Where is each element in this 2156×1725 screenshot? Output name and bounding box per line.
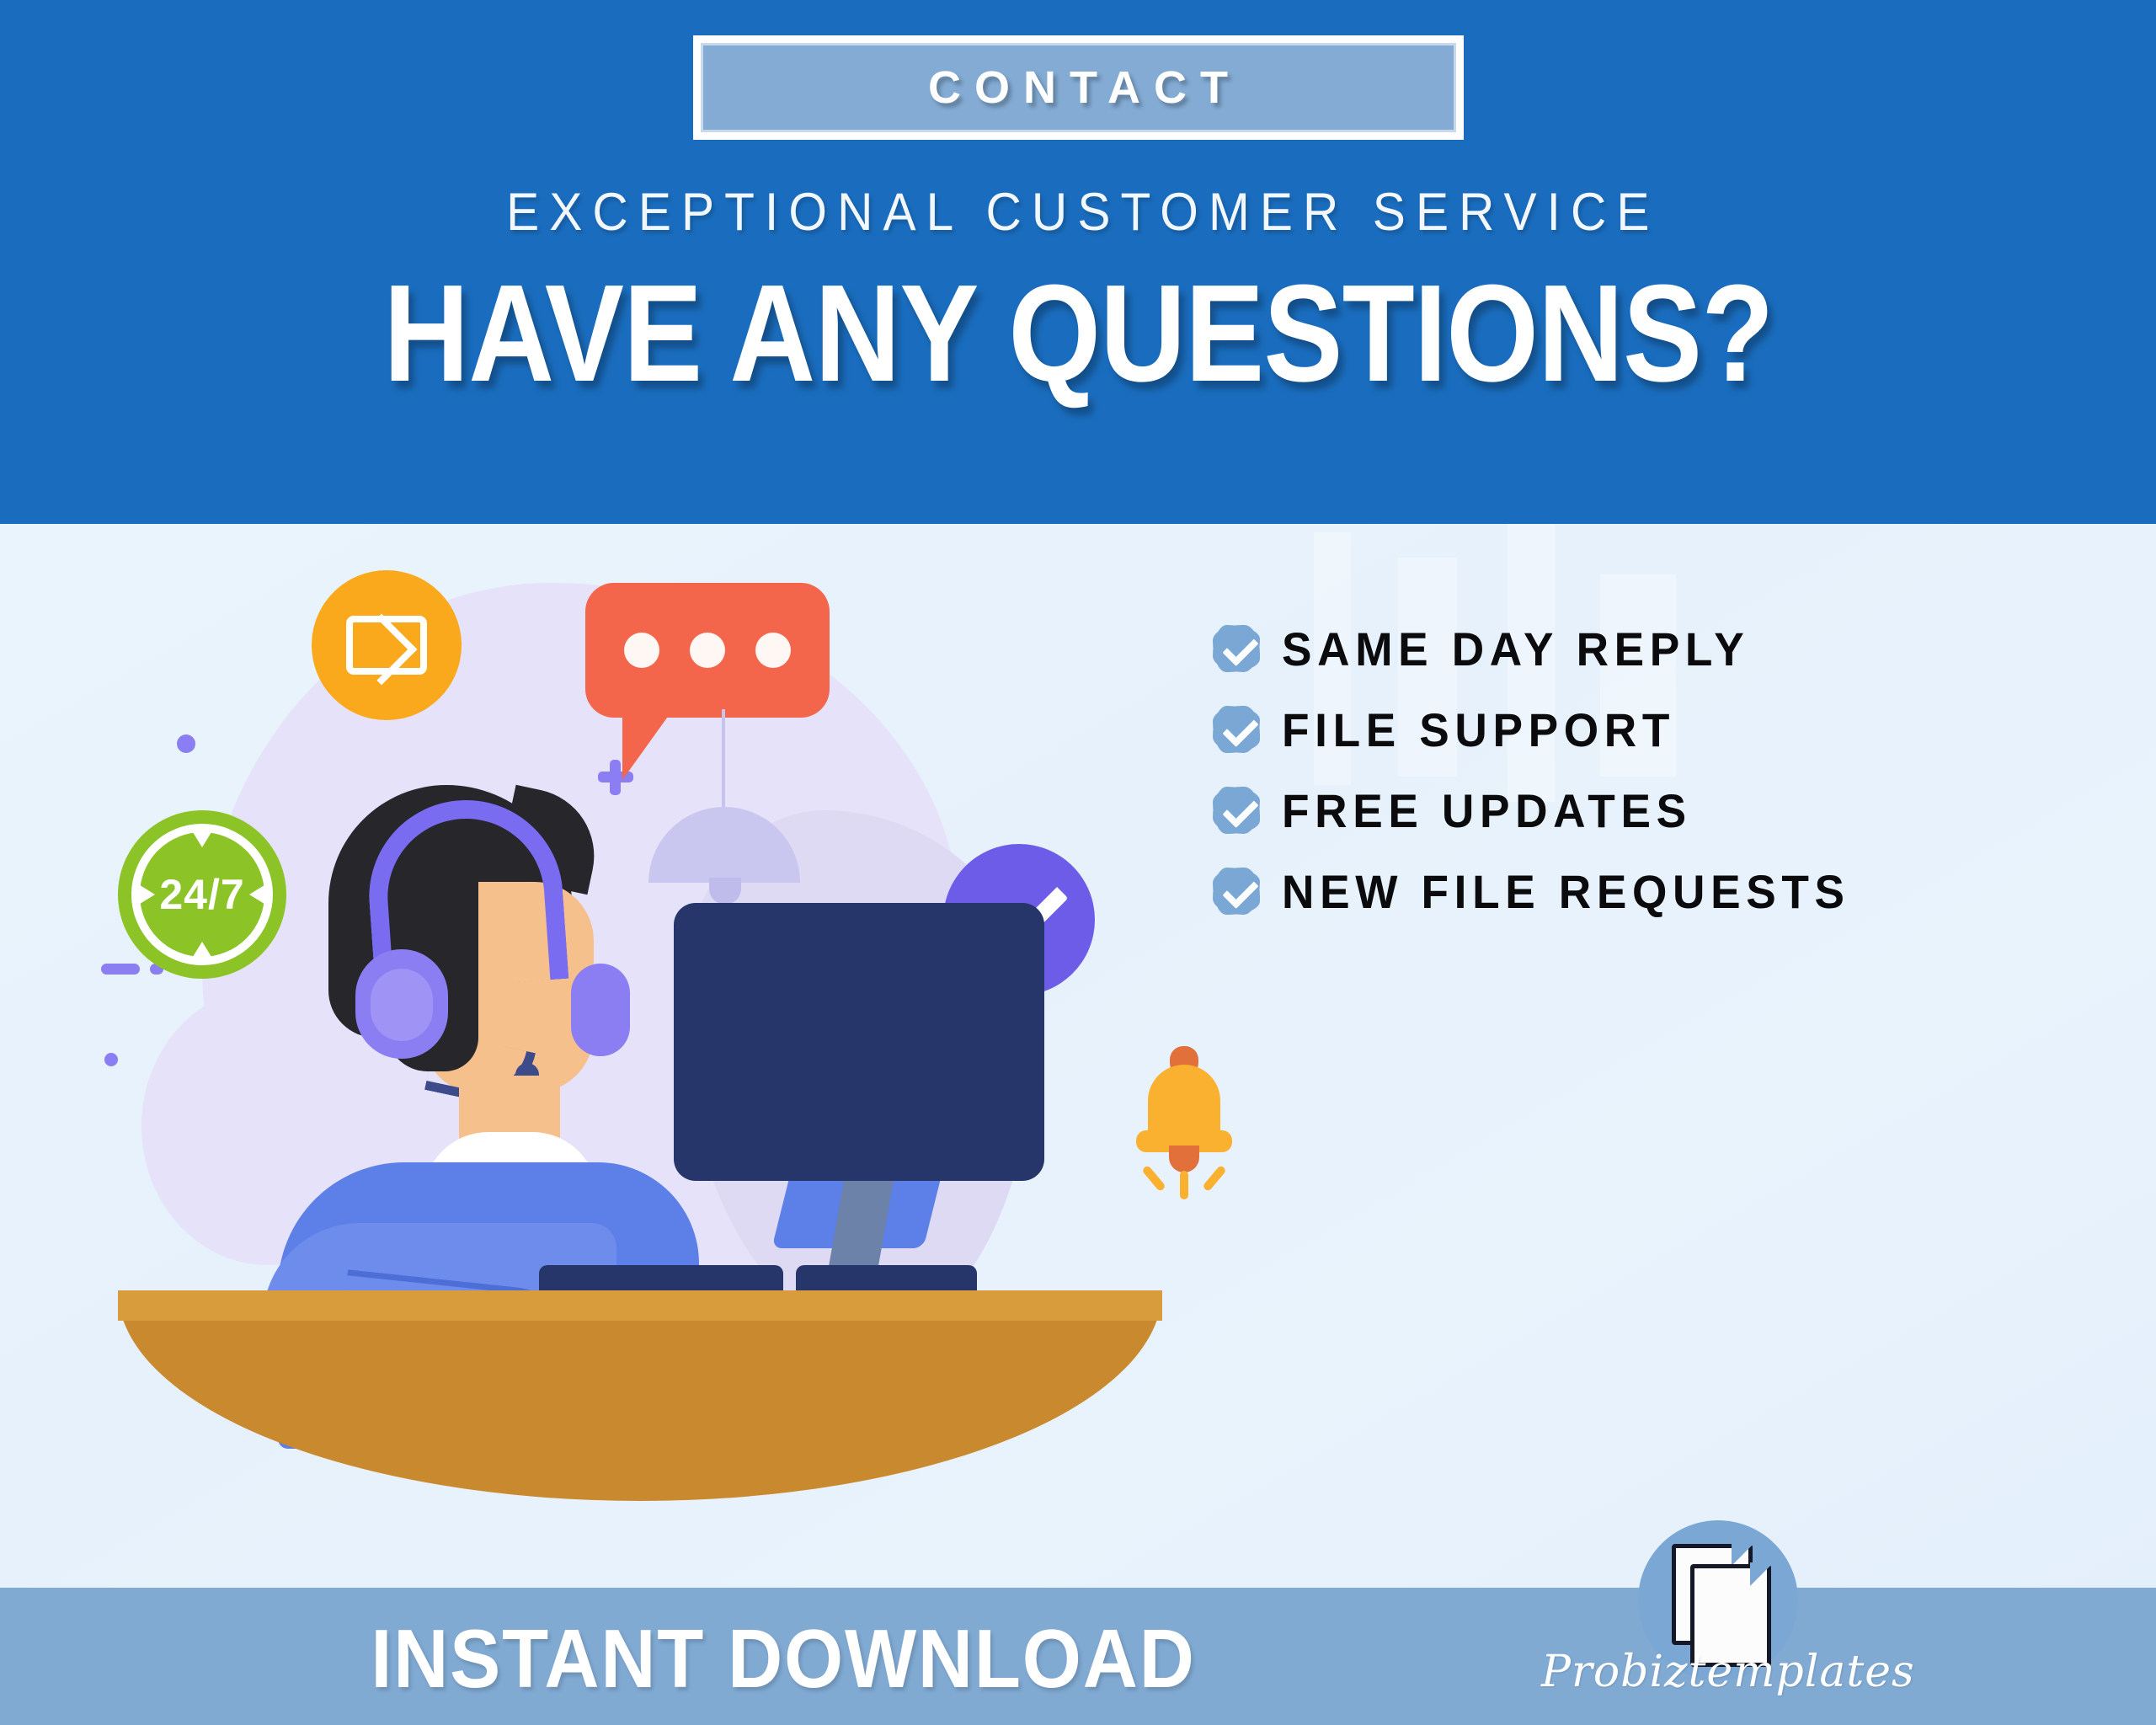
feature-label: FILE SUPPORT (1282, 702, 1675, 757)
feature-list: SAME DAY REPLY FILE SUPPORT FREE UPDATES (1213, 608, 1880, 932)
feature-item-file-support: FILE SUPPORT (1213, 689, 1880, 770)
contact-badge: CONTACT (693, 35, 1464, 140)
bell-ray-right (1202, 1165, 1227, 1192)
feature-label: FREE UPDATES (1282, 783, 1692, 838)
verified-check-badge-icon (1213, 706, 1260, 753)
content-area: 24/7 (0, 524, 2156, 1588)
monitor-screen (674, 903, 1044, 1181)
decorative-dot-2 (104, 1053, 118, 1066)
decorative-dot-1 (177, 734, 195, 753)
desk-surface (118, 1290, 1162, 1501)
contact-badge-label: CONTACT (915, 61, 1241, 114)
clock-tick-left (133, 881, 155, 908)
notification-bell-icon (1133, 1046, 1234, 1181)
bell-clapper (1169, 1146, 1199, 1172)
decorative-dash-3 (101, 964, 140, 975)
bell-ray-left (1141, 1165, 1166, 1192)
verified-check-badge-icon (1213, 868, 1260, 915)
feature-item-free-updates: FREE UPDATES (1213, 770, 1880, 851)
bell-body (1148, 1065, 1220, 1139)
poster-canvas: CONTACT EXCEPTIONAL CUSTOMER SERVICE HAV… (0, 0, 2156, 1725)
clock-badge-label: 24/7 (159, 870, 244, 919)
verified-check-badge-icon (1213, 787, 1260, 834)
headset-earcup-far (571, 964, 630, 1056)
feature-label: SAME DAY REPLY (1282, 622, 1749, 676)
envelope-icon (312, 570, 462, 720)
bell-ray-center (1180, 1171, 1188, 1199)
verified-check-badge-icon (1213, 625, 1260, 672)
desk-surface-top (118, 1290, 1162, 1321)
feature-item-new-file-requests: NEW FILE REQUESTS (1213, 851, 1880, 932)
chat-bubble-icon (585, 583, 830, 718)
clock-tick-top (189, 825, 216, 847)
feature-label: NEW FILE REQUESTS (1282, 864, 1850, 919)
chat-dot-2 (690, 633, 725, 668)
page-title: HAVE ANY QUESTIONS? (383, 261, 1773, 406)
clock-tick-bottom (189, 942, 216, 964)
instant-download-label: INSTANT DOWNLOAD (62, 1611, 1503, 1706)
header-band: CONTACT EXCEPTIONAL CUSTOMER SERVICE HAV… (0, 0, 2156, 524)
eyebrow-text: EXCEPTIONAL CUSTOMER SERVICE (496, 182, 1660, 243)
headset-earcup-inner (371, 969, 433, 1041)
brand-name: Probiztemplates (1541, 1647, 1903, 1697)
customer-support-illustration: 24/7 (93, 532, 1179, 1588)
envelope-glyph (346, 616, 427, 675)
chat-dot-1 (624, 633, 659, 668)
contact-badge-inner-border: CONTACT (701, 43, 1456, 132)
feature-item-same-day-reply: SAME DAY REPLY (1213, 608, 1880, 689)
page-fold-front (1750, 1562, 1774, 1586)
chat-dot-3 (755, 633, 791, 668)
